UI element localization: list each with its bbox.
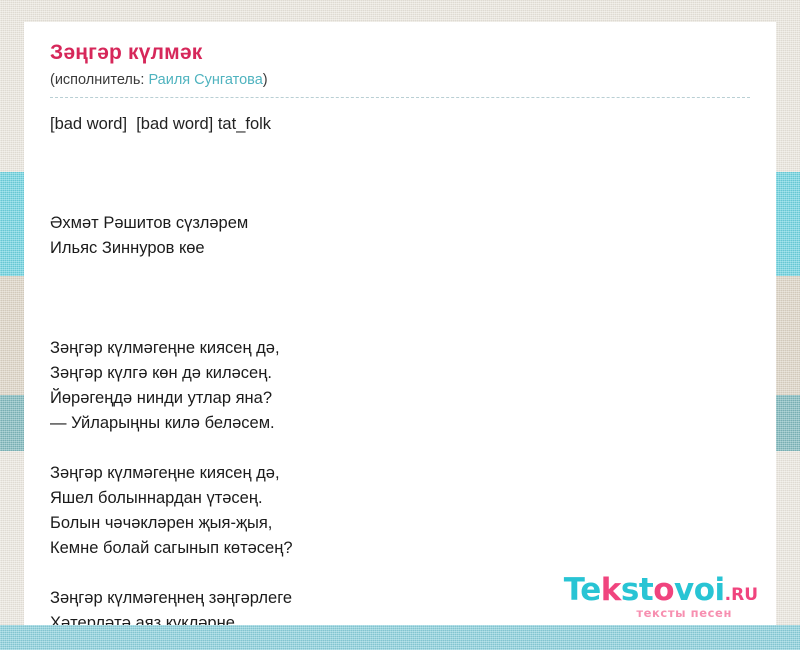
credits-block: Әхмәт Рәшитов сүзләремИльяс Зиннуров көе bbox=[50, 211, 750, 261]
lyric-line: Яшел болыннардан үтәсең. bbox=[50, 486, 750, 511]
content-sheet-inner: Зәңгәр күлмәк (исполнитель: Раиля Сунгат… bbox=[24, 22, 776, 625]
artist-link[interactable]: Раиля Сунгатова bbox=[148, 72, 262, 88]
watermark-part-2: k bbox=[601, 572, 621, 608]
lyric-line: Болын чәчәкләрен җыя-җыя, bbox=[50, 511, 750, 536]
lyric-line: Йөрәгеңдә нинди утлар яна? bbox=[50, 386, 750, 411]
watermark-tagline: тексты песен bbox=[564, 608, 732, 620]
watermark-domain: .RU bbox=[725, 585, 758, 605]
watermark-wordmark: Tekstovoi.RU bbox=[564, 575, 758, 606]
bg-band-cyan-footer-band bbox=[0, 625, 800, 650]
lyric-line: Зәңгәр күлмәгеңне киясең дә, bbox=[50, 461, 750, 486]
lyrics-body: Әхмәт Рәшитов сүзләремИльяс Зиннуров көе… bbox=[50, 161, 750, 625]
tags-row[interactable]: [bad word] [bad word] tat_folk bbox=[50, 114, 750, 135]
artist-byline: (исполнитель: Раиля Сунгатова) bbox=[50, 71, 750, 98]
watermark-part-4: o bbox=[653, 572, 674, 608]
lyric-line: Зәңгәр күлмәгеңне киясең дә, bbox=[50, 336, 750, 361]
watermark-part-3: st bbox=[621, 572, 653, 608]
credit-line: Ильяс Зиннуров көе bbox=[50, 236, 750, 261]
byline-prefix-label: (исполнитель: bbox=[50, 72, 148, 88]
page-title: Зәңгәр күлмәк bbox=[50, 40, 750, 65]
byline-suffix-label: ) bbox=[263, 72, 268, 88]
watermark-part-5: voi bbox=[674, 572, 725, 608]
lyric-line: Зәңгәр күлгә көн дә киләсең. bbox=[50, 361, 750, 386]
content-sheet: Зәңгәр күлмәк (исполнитель: Раиля Сунгат… bbox=[24, 22, 776, 625]
site-watermark-logo: Tekstovoi.RU тексты песен bbox=[564, 575, 758, 620]
watermark-part-1: Te bbox=[564, 572, 601, 608]
credit-line: Әхмәт Рәшитов сүзләрем bbox=[50, 211, 750, 236]
lyric-line: Кемне болай сагынып көтәсең? bbox=[50, 536, 750, 561]
lyrics-stanza: Зәңгәр күлмәгеңне киясең дә,Зәңгәр күлгә… bbox=[50, 336, 750, 436]
lyrics-stanza: Зәңгәр күлмәгеңне киясең дә,Яшел болынна… bbox=[50, 461, 750, 561]
lyric-line: — Уйларыңны килә беләсем. bbox=[50, 411, 750, 436]
